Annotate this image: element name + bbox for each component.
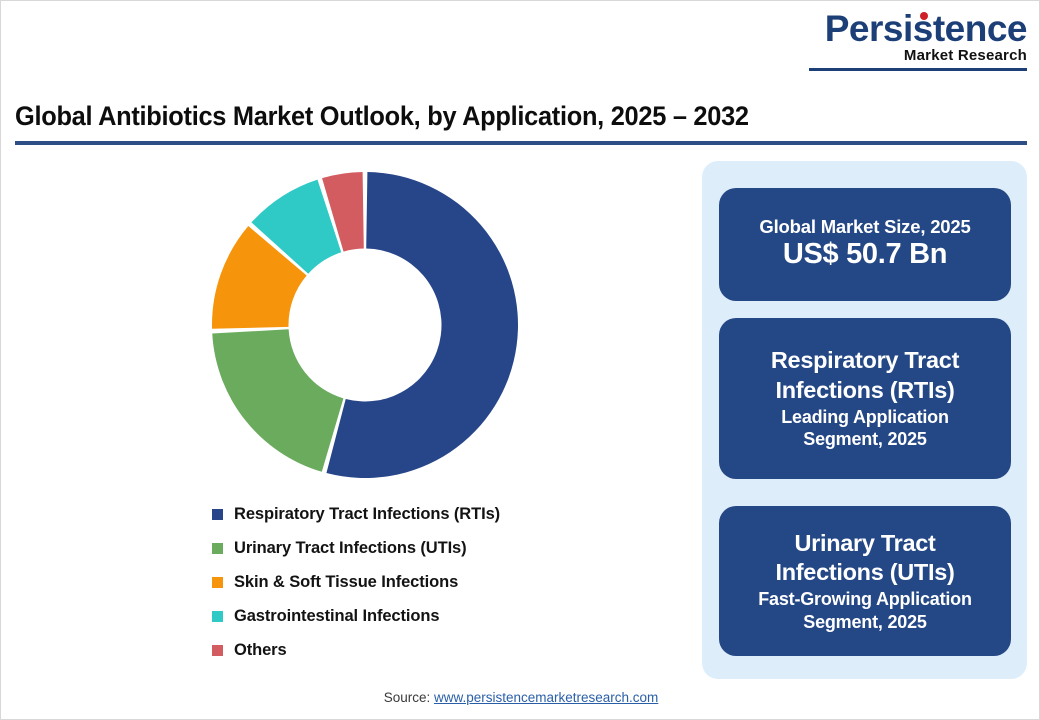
page-title: Global Antibiotics Market Outlook, by Ap… [15,101,966,132]
infographic-page: Persistence Market Research Global Antib… [0,0,1040,720]
brand-tagline: Market Research [904,48,1027,65]
donut-chart-svg [212,172,518,478]
source-link[interactable]: www.persistencemarketresearch.com [434,690,658,705]
fast-growing-title-line1: Urinary Tract [794,529,935,559]
donut-slice-group [212,172,518,478]
source-label: Source: [384,690,434,705]
market-size-value: US$ 50.7 Bn [783,237,947,273]
source-footer: Source: www.persistencemarketresearch.co… [1,690,1040,705]
legend-item-label: Respiratory Tract Infections (RTIs) [234,505,500,524]
legend-item-label: Others [234,641,287,660]
donut-chart [212,172,518,478]
stat-box-fast-growing-segment: Urinary Tract Infections (UTIs) Fast-Gro… [719,506,1011,656]
leading-segment-title-line1: Respiratory Tract [771,346,959,376]
stat-box-market-size: Global Market Size, 2025 US$ 50.7 Bn [719,188,1011,301]
legend-item[interactable]: Skin & Soft Tissue Infections [212,565,642,599]
fast-growing-sub-line2: Segment, 2025 [803,612,926,634]
title-bar: Global Antibiotics Market Outlook, by Ap… [15,101,1027,145]
legend-swatch-icon [212,577,223,588]
brand-logo: Persistence Market Research [809,9,1027,71]
brand-dot-icon [920,12,928,20]
legend-swatch-icon [212,645,223,656]
brand-name: Persistence [825,10,1027,47]
legend-swatch-icon [212,509,223,520]
leading-segment-sub-line1: Leading Application [781,407,949,429]
stat-box-leading-segment: Respiratory Tract Infections (RTIs) Lead… [719,318,1011,479]
leading-segment-sub-line2: Segment, 2025 [803,429,926,451]
legend-item[interactable]: Respiratory Tract Infections (RTIs) [212,497,642,531]
legend-item-label: Skin & Soft Tissue Infections [234,573,458,592]
market-size-caption: Global Market Size, 2025 [759,216,970,238]
chart-legend: Respiratory Tract Infections (RTIs)Urina… [212,497,642,667]
leading-segment-title-line2: Infections (RTIs) [776,376,955,406]
legend-swatch-icon [212,543,223,554]
legend-item[interactable]: Urinary Tract Infections (UTIs) [212,531,642,565]
fast-growing-title-line2: Infections (UTIs) [776,558,955,588]
donut-slice[interactable] [212,329,343,472]
legend-item-label: Urinary Tract Infections (UTIs) [234,539,467,558]
highlights-panel: Global Market Size, 2025 US$ 50.7 Bn Res… [702,161,1027,679]
legend-item[interactable]: Gastrointestinal Infections [212,599,642,633]
fast-growing-sub-line1: Fast-Growing Application [758,589,972,611]
chart-area: Respiratory Tract Infections (RTIs)Urina… [15,161,685,676]
legend-item-label: Gastrointestinal Infections [234,607,439,626]
legend-item[interactable]: Others [212,633,642,667]
title-divider [15,141,1027,145]
legend-swatch-icon [212,611,223,622]
